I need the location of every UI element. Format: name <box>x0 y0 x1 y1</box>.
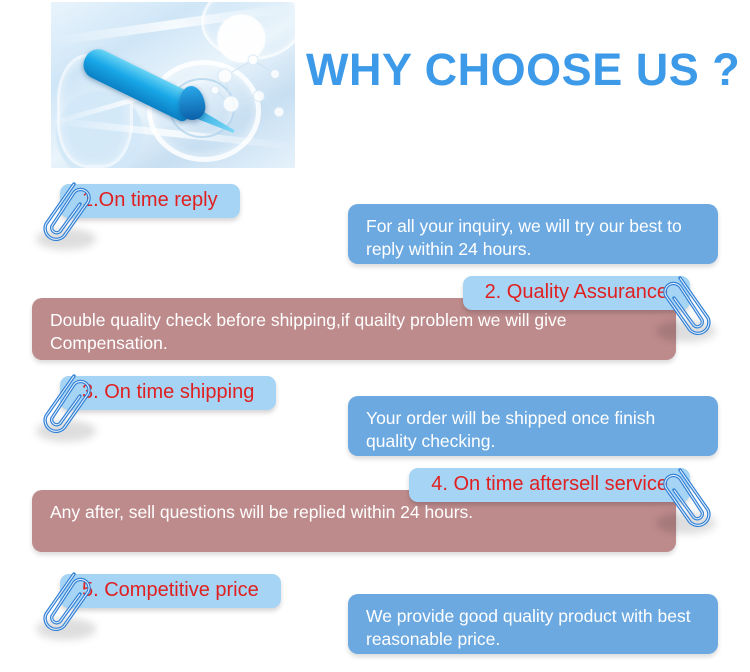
benefit-row-3: Your order will be shipped once finish q… <box>0 368 750 466</box>
benefit-description-1: For all your inquiry, we will try our be… <box>348 204 718 264</box>
page-title: WHY CHOOSE US ? <box>306 44 740 96</box>
paperclip-icon <box>30 564 96 638</box>
paperclip-icon <box>30 366 96 440</box>
paperclip-icon <box>658 460 724 534</box>
benefit-description-3: Your order will be shipped once finish q… <box>348 396 718 456</box>
lab-hero-image <box>51 2 295 168</box>
benefit-tag-2: 2. Quality Assurance <box>463 276 690 310</box>
benefit-row-4: Any after, sell questions will be replie… <box>0 468 750 566</box>
benefit-row-5: We provide good quality product with bes… <box>0 566 750 664</box>
benefit-description-5: We provide good quality product with bes… <box>348 594 718 654</box>
header-banner: WHY CHOOSE US ? <box>0 0 750 176</box>
paperclip-icon <box>658 268 724 342</box>
paperclip-icon <box>30 174 96 248</box>
benefit-tag-4: 4. On time aftersell service <box>409 468 690 502</box>
benefit-row-2: Double quality check before shipping,if … <box>0 276 750 374</box>
benefit-row-1: For all your inquiry, we will try our be… <box>0 176 750 274</box>
benefits-list: For all your inquiry, we will try our be… <box>0 176 750 672</box>
